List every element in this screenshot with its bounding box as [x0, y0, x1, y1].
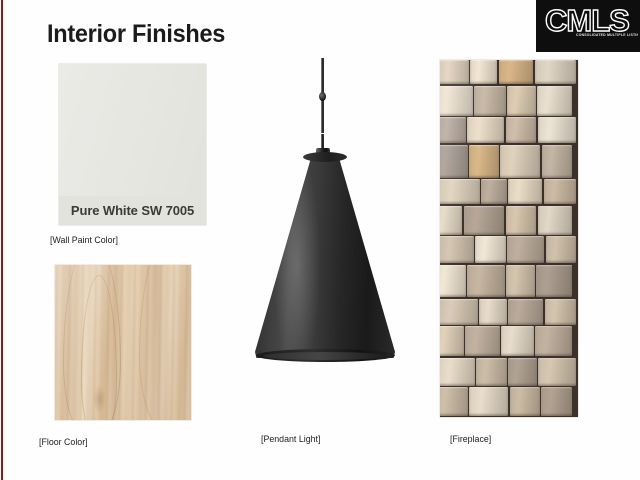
stone-block — [507, 86, 536, 116]
stone-block — [510, 387, 540, 416]
stone-block — [501, 326, 534, 356]
stone-block — [479, 299, 507, 325]
pendant-shade-inner-rim — [264, 352, 386, 360]
stone-block — [508, 358, 537, 386]
page-title: Interior Finishes — [47, 20, 225, 49]
cmls-logo-tagline: CONSOLIDATED MULTIPLE LISTING SERVICE — [576, 33, 638, 38]
stone-block — [467, 265, 505, 297]
stone-block — [440, 299, 478, 325]
stone-block — [440, 145, 468, 178]
pendant-rod-joint — [319, 92, 326, 101]
pendant-shade-top-cap — [303, 152, 347, 162]
stone-block — [538, 206, 572, 235]
slide-canvas: Interior Finishes CMLS CONSOLIDATED MULT… — [0, 0, 640, 480]
stone-block — [469, 387, 508, 416]
fireplace-stone-swatch — [440, 60, 578, 417]
stone-block — [500, 145, 540, 178]
stone-block — [507, 236, 544, 263]
stone-block — [535, 326, 572, 356]
stone-block — [470, 60, 497, 84]
stone-block — [440, 86, 473, 116]
stone-block — [440, 358, 475, 386]
stone-block — [542, 145, 573, 178]
stone-block — [538, 358, 576, 386]
left-accent-glow — [3, 0, 6, 480]
stone-block — [508, 299, 543, 325]
stone-block — [536, 265, 572, 297]
pendant-light-image — [255, 58, 395, 363]
stone-block — [541, 387, 572, 416]
cmls-logo-wordmark: CMLS — [545, 5, 640, 36]
stone-block — [474, 86, 506, 116]
caption-floor-color: [Floor Color] — [39, 437, 88, 448]
floor-swatch-sheen — [55, 265, 191, 420]
caption-pendant-light: [Pendant Light] — [261, 434, 320, 445]
stone-block — [469, 145, 499, 178]
stone-block — [499, 60, 534, 84]
stone-block — [440, 236, 474, 263]
stone-block — [465, 326, 500, 356]
stone-block — [545, 299, 577, 325]
stone-block — [475, 236, 506, 263]
stone-block — [537, 86, 572, 116]
stone-block — [535, 60, 576, 84]
stone-block — [546, 236, 577, 263]
stone-block — [508, 179, 542, 204]
stone-block — [440, 206, 462, 235]
stone-block — [481, 179, 506, 204]
stone-block — [440, 179, 480, 204]
stone-block — [544, 179, 577, 204]
wall-paint-swatch: Pure White SW 7005 — [59, 64, 206, 225]
cmls-logo: CMLS CONSOLIDATED MULTIPLE LISTING SERVI… — [536, 0, 640, 52]
pendant-cone-shade — [255, 153, 395, 358]
stone-block — [506, 265, 535, 297]
stone-block — [440, 265, 466, 297]
stone-block — [476, 358, 507, 386]
stone-block — [440, 60, 469, 84]
stone-block — [440, 117, 466, 143]
wall-paint-color-name: Pure White SW 7005 — [59, 196, 206, 225]
caption-wall-paint-color: [Wall Paint Color] — [50, 235, 118, 246]
stone-block — [506, 117, 537, 143]
stone-block — [440, 387, 468, 416]
stone-block — [464, 206, 504, 235]
stone-block — [506, 206, 536, 235]
caption-fireplace: [Fireplace] — [450, 434, 491, 445]
stone-block — [440, 326, 464, 356]
floor-color-swatch — [55, 265, 191, 420]
stone-block — [538, 117, 576, 143]
stone-block — [467, 117, 504, 143]
